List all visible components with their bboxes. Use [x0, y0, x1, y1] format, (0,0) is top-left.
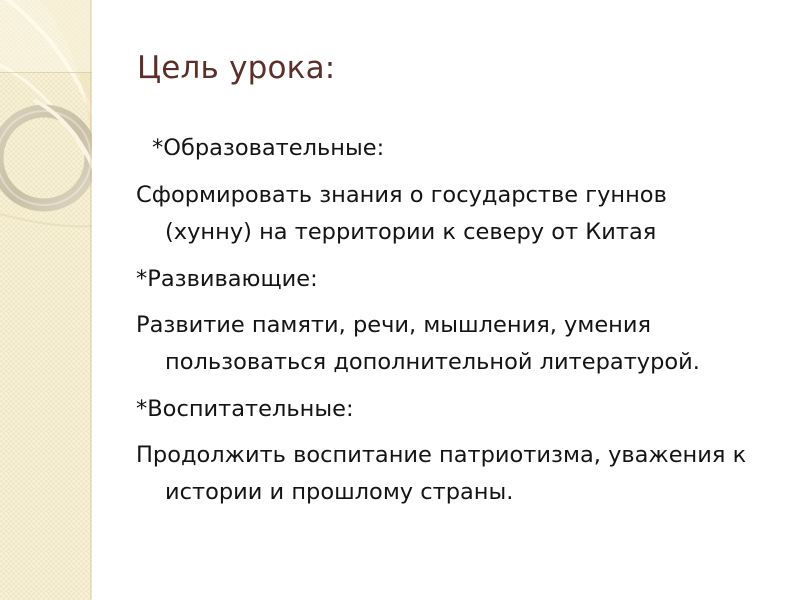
slide-title: Цель урока:: [137, 48, 757, 88]
sidebar-right-edge: [90, 0, 92, 600]
ring-under-shadow: [0, 214, 92, 226]
sidebar-arc-decoration-svg: [0, 0, 92, 600]
bullet-developmental-heading: *Развивающие:: [136, 261, 760, 298]
bullet-developmental-body: Развитие памяти, речи, мышления, умения …: [136, 307, 760, 381]
slide-body: *Образовательные: Сформировать знания о …: [136, 130, 760, 521]
bullet-educational-heading: *Образовательные:: [136, 130, 760, 167]
sidebar-top-band: [0, 0, 92, 73]
slide-canvas: Цель урока: *Образовательные: Сформирова…: [0, 0, 800, 600]
bullet-upbringing-body: Продолжить воспитание патриотизма, уваже…: [136, 437, 760, 511]
decorative-sidebar: [0, 0, 92, 600]
bullet-educational-body: Сформировать знания о государстве гуннов…: [136, 177, 760, 251]
bullet-upbringing-heading: *Воспитательные:: [136, 391, 760, 428]
